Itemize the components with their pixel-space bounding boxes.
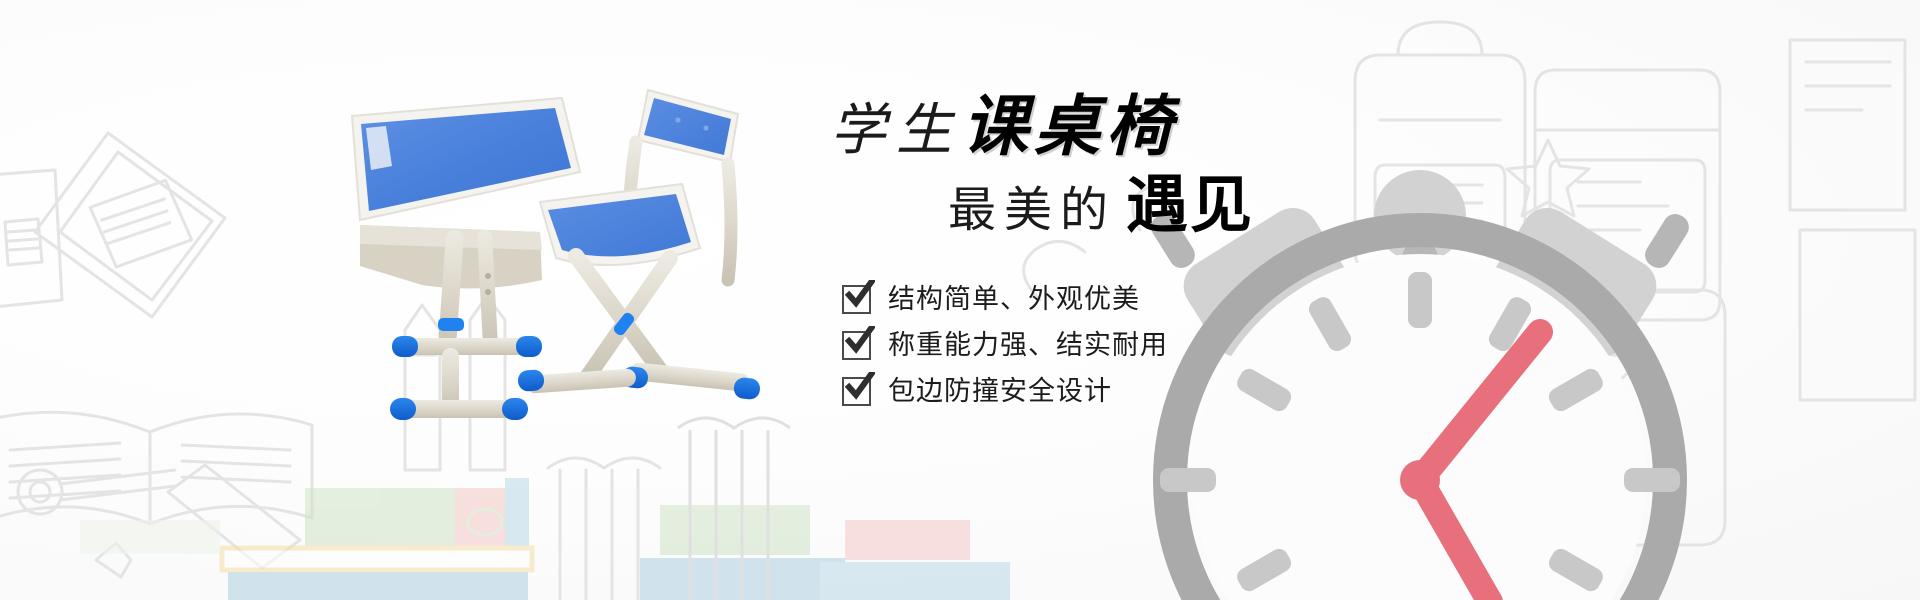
feature-label: 称重能力强、结实耐用	[888, 332, 1168, 359]
feature-list: 结构简单、外观优美 称重能力强、结实耐用 包边防撞安全设计	[842, 285, 1380, 406]
headline-line-1: 学生课桌椅	[830, 95, 1380, 161]
list-item: 包边防撞安全设计	[842, 377, 1380, 406]
checkbox-checked-icon	[842, 285, 871, 314]
promo-banner: 学生课桌椅 最美的遇见 结构简单、外观优美 称重能力强、结	[0, 0, 1920, 600]
list-item: 结构简单、外观优美	[842, 285, 1380, 314]
list-item: 称重能力强、结实耐用	[842, 331, 1380, 360]
headline-line-2-light: 最美的	[948, 184, 1116, 237]
checkbox-checked-icon	[842, 377, 871, 406]
product-image-desk-and-chair	[330, 80, 790, 460]
feature-label: 结构简单、外观优美	[888, 286, 1140, 313]
copy-block: 学生课桌椅 最美的遇见 结构简单、外观优美 称重能力强、结	[820, 95, 1380, 423]
headline-line-2: 最美的遇见	[948, 175, 1380, 237]
feature-label: 包边防撞安全设计	[888, 378, 1112, 405]
checkbox-checked-icon	[842, 331, 871, 360]
headline-line-1-bold: 课桌椅	[962, 91, 1178, 164]
headline-line-2-bold: 遇见	[1126, 172, 1254, 240]
headline-line-1-light: 学生	[830, 100, 962, 162]
